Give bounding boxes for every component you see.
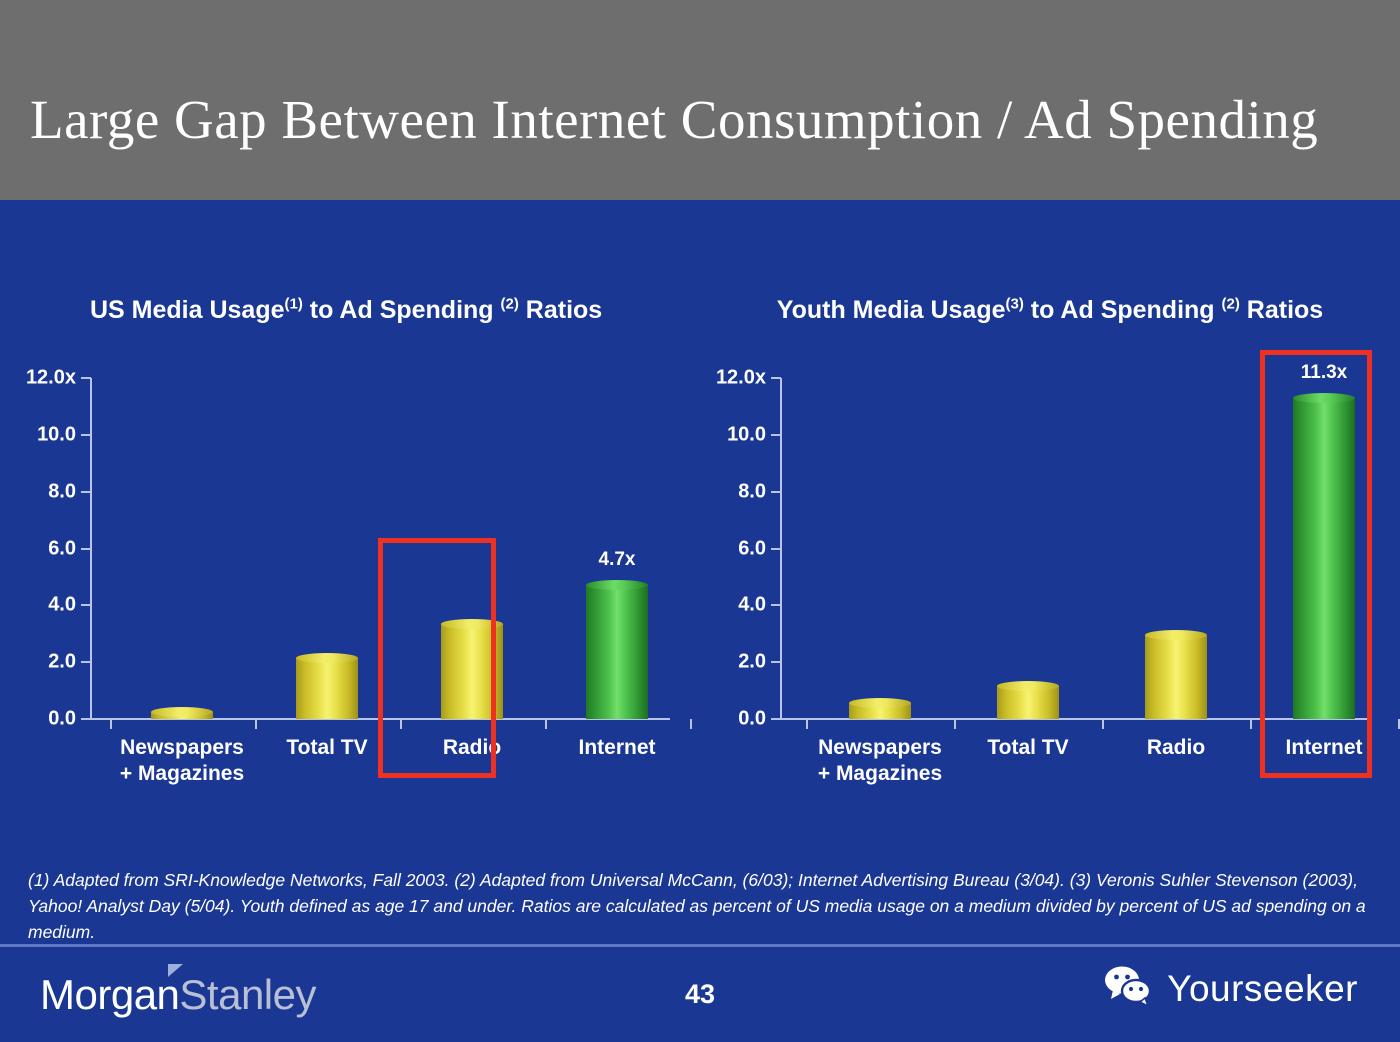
brand-watermark: Yourseeker (1103, 965, 1358, 1012)
x-tick (806, 719, 808, 729)
highlight-box-internet-us (378, 538, 496, 778)
chart-title-part2: to Ad Spending (303, 296, 501, 324)
page-title: Large Gap Between Internet Consumption /… (30, 88, 1380, 151)
footnote: (1) Adapted from SRI-Knowledge Networks,… (28, 868, 1376, 946)
bar-internet (586, 585, 648, 719)
bar-total-tv (296, 658, 358, 719)
y-tick-label: 2.0 (48, 651, 76, 674)
y-tick (771, 604, 781, 606)
brand-label: Yourseeker (1167, 968, 1358, 1010)
y-tick (81, 548, 91, 550)
chart-title-part3: Ratios (519, 296, 602, 324)
y-tick-label: 4.0 (738, 594, 766, 617)
slide-header: Large Gap Between Internet Consumption /… (0, 0, 1400, 200)
bar-cap (586, 580, 648, 590)
x-axis-label: Newspapers+ Magazines (818, 735, 942, 788)
bar-cap (296, 653, 358, 663)
chart-title-part1: US Media Usage (90, 296, 285, 324)
y-tick (771, 548, 781, 550)
y-tick (771, 377, 781, 379)
wechat-icon (1103, 965, 1155, 1012)
y-tick (771, 491, 781, 493)
x-axis-label: Newspapers+ Magazines (120, 735, 244, 788)
morgan-stanley-triangle-icon (168, 964, 183, 977)
y-tick-label: 6.0 (738, 537, 766, 560)
bar-total-tv (997, 686, 1059, 719)
y-tick (81, 491, 91, 493)
bar-cap (151, 707, 213, 717)
chart-title-part1: Youth Media Usage (777, 296, 1006, 324)
bar-body (586, 585, 648, 719)
y-tick (81, 661, 91, 663)
x-axis-label: Internet (578, 735, 655, 761)
plot-area-us-media: 0.02.04.06.08.010.012.0x 4.7x Newspapers… (90, 378, 670, 719)
highlight-box-internet-youth (1260, 350, 1372, 778)
x-axis-label: Total TV (286, 735, 367, 761)
x-tick (255, 719, 257, 729)
x-tick (110, 719, 112, 729)
x-axis-label: Radio (1147, 735, 1205, 761)
chart-title-sup1: (1) (285, 296, 303, 313)
chart-panel-youth-media: Youth Media Usage(3) to Ad Spending (2) … (700, 275, 1400, 815)
chart-title-sup2: (2) (1222, 296, 1240, 313)
y-tick-label: 8.0 (738, 480, 766, 503)
x-tick (954, 719, 956, 729)
y-tick (81, 604, 91, 606)
x-tick (1102, 719, 1104, 729)
chart-title-youth-media: Youth Media Usage(3) to Ad Spending (2) … (700, 293, 1400, 328)
y-tick-label: 6.0 (48, 537, 76, 560)
slide-root: Large Gap Between Internet Consumption /… (0, 0, 1400, 1042)
chart-title-part2: to Ad Spending (1024, 296, 1222, 324)
bar-body (1145, 635, 1207, 719)
y-tick-label: 12.0x (716, 367, 766, 390)
y-tick-label: 8.0 (48, 480, 76, 503)
y-tick (771, 434, 781, 436)
y-tick-label: 2.0 (738, 651, 766, 674)
bar-cap (1145, 630, 1207, 640)
y-tick (81, 718, 91, 720)
bar-newspapers-magazines (151, 712, 213, 719)
bar-body (296, 658, 358, 719)
y-tick (81, 377, 91, 379)
y-tick (771, 661, 781, 663)
bar-radio (1145, 635, 1207, 719)
y-tick-label: 12.0x (26, 367, 76, 390)
x-tick (690, 719, 692, 729)
chart-title-part3: Ratios (1240, 296, 1323, 324)
x-tick (1250, 719, 1252, 729)
y-tick-label: 10.0 (37, 423, 76, 446)
chart-panel-us-media: US Media Usage(1) to Ad Spending (2) Rat… (0, 275, 700, 815)
y-tick-label: 10.0 (727, 423, 766, 446)
chart-title-sup1: (3) (1006, 296, 1024, 313)
x-axis-label: Total TV (987, 735, 1068, 761)
bar-cap (849, 698, 911, 708)
bar-cap (997, 681, 1059, 691)
y-tick (771, 718, 781, 720)
plot-area-youth-media: 0.02.04.06.08.010.012.0x 11.3x Newspaper… (780, 378, 1370, 719)
bar-newspapers-magazines (849, 703, 911, 719)
chart-title-sup2: (2) (501, 296, 519, 313)
y-tick-label: 0.0 (48, 708, 76, 731)
bar-data-label: 4.7x (599, 549, 636, 571)
chart-title-us-media: US Media Usage(1) to Ad Spending (2) Rat… (0, 293, 700, 328)
x-tick (545, 719, 547, 729)
slide-footer: MorganStanley 43 Yourseeker (0, 947, 1400, 1042)
y-tick (81, 434, 91, 436)
y-tick-label: 0.0 (738, 708, 766, 731)
y-tick-label: 4.0 (48, 594, 76, 617)
